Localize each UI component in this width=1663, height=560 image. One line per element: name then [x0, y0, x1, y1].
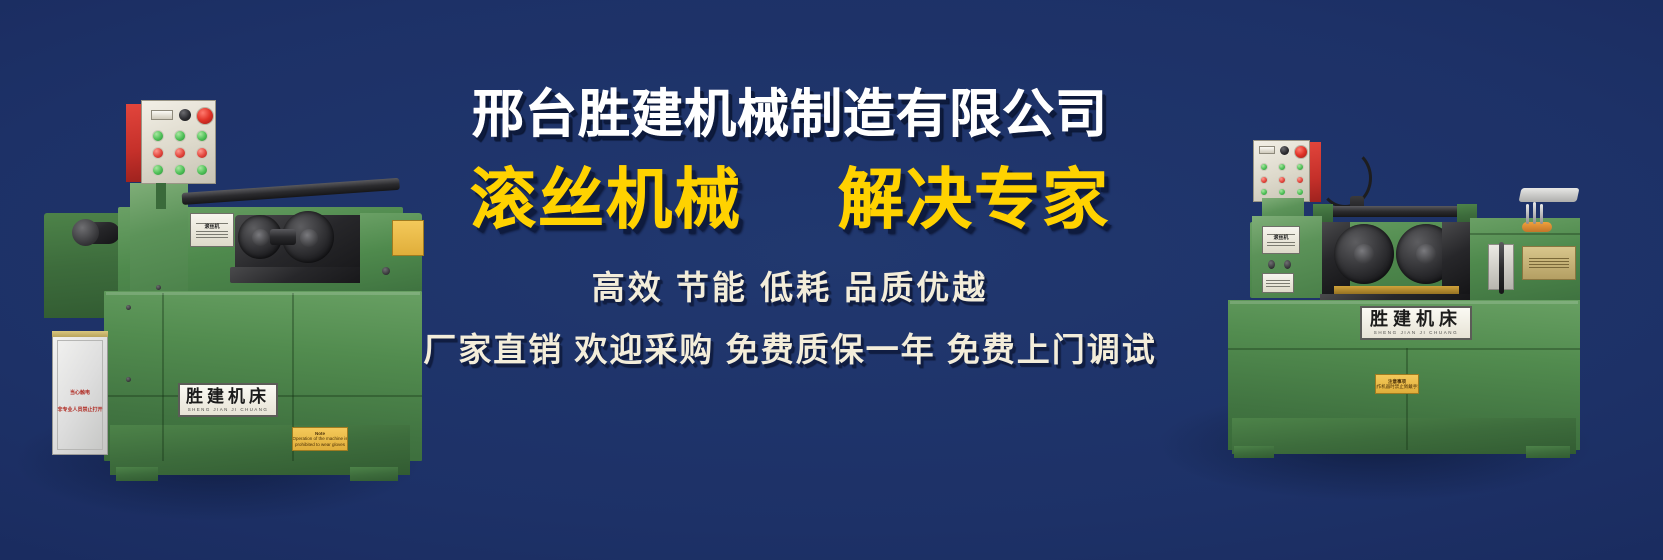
headline-left: 滚丝机械: [470, 163, 742, 236]
right-machine-warning-label: 注意事项 操作机器时禁止佩戴手套: [1375, 374, 1419, 394]
indicator-lamp[interactable]: [196, 130, 208, 142]
promotional-banner: 滚丝机 胜建机床 SHEN: [0, 0, 1663, 560]
left-machine-roller-hub-b: [300, 229, 318, 247]
right-machine-head-bolt: [1268, 260, 1275, 269]
right-machine-base-seam: [1228, 348, 1580, 350]
indicator-lamp[interactable]: [1296, 188, 1304, 196]
left-machine-foot: [350, 467, 398, 481]
left-machine-rail-bracket: [156, 183, 166, 209]
nameplate-chinese: 胜建机床: [1370, 310, 1462, 328]
right-machine-info-plate: [1262, 273, 1294, 293]
indicator-lamp[interactable]: [152, 164, 164, 176]
indicator-lamp[interactable]: [174, 164, 186, 176]
nameplate-pinyin: SHENG JIAN JI CHUANG: [188, 408, 269, 413]
cabinet-warning-text: 当心触电 非专业人员禁止打开: [53, 390, 107, 414]
right-machine-seam: [1470, 233, 1580, 235]
indicator-lamp[interactable]: [1278, 163, 1286, 171]
left-machine-warning-label: Note Operation of the machine is prohibi…: [292, 427, 348, 451]
tagline-features: 高效 节能 低耗 品质优越: [390, 261, 1190, 309]
indicator-lamp[interactable]: [1296, 163, 1304, 171]
left-machine-cabinet-top-trim: [52, 331, 108, 337]
left-machine-control-panel[interactable]: [126, 100, 216, 186]
indicator-lamp[interactable]: [196, 147, 208, 159]
left-machine-spec-plate: 滚丝机: [190, 213, 234, 247]
indicator-lamp[interactable]: [196, 164, 208, 176]
right-machine-top-fixture: [1519, 188, 1580, 202]
left-machine-shaft-hub: [72, 219, 99, 246]
control-panel-display: [1259, 146, 1275, 154]
right-machine-coolant-tube: [1526, 204, 1529, 224]
control-panel-face[interactable]: [1253, 140, 1310, 202]
nameplate-chinese: 胜建机床: [186, 388, 270, 405]
headline-right: 解决专家: [838, 163, 1110, 236]
left-machine-electrical-cabinet[interactable]: 当心触电 非专业人员禁止打开: [52, 335, 108, 455]
headline-row: 滚丝机械 解决专家: [390, 163, 1190, 236]
indicator-lamp[interactable]: [174, 130, 186, 142]
left-machine-panel-seam: [162, 293, 164, 461]
right-machine-guide-rail: [1330, 206, 1460, 217]
warning-label-line2: prohibited to wear gloves: [295, 442, 345, 447]
indicator-lamp[interactable]: [152, 147, 164, 159]
right-machine-head-bolt: [1284, 260, 1291, 269]
indicator-lamp[interactable]: [1260, 163, 1268, 171]
machine-left: 滚丝机 胜建机床 SHEN: [30, 95, 430, 485]
right-machine-coolant-tube: [1540, 204, 1543, 224]
right-machine-foot: [1234, 446, 1274, 458]
control-panel-selector-knob[interactable]: [179, 109, 191, 121]
company-name: 邢台胜建机械制造有限公司: [390, 88, 1190, 143]
left-machine-roller-base: [230, 267, 380, 283]
control-panel-display: [151, 110, 173, 120]
emergency-stop-button[interactable]: [1294, 145, 1308, 159]
tagline-services: 厂家直销 欢迎采购 免费质保一年 免费上门调试: [390, 323, 1190, 371]
indicator-lamp[interactable]: [1278, 176, 1286, 184]
right-machine-control-panel[interactable]: [1253, 140, 1323, 202]
left-machine-base-bolt: [126, 305, 131, 310]
banner-text-block: 邢台胜建机械制造有限公司 滚丝机械 解决专家 高效 节能 低耗 品质优越 厂家直…: [390, 88, 1190, 371]
machine-right: 滚丝机: [1170, 118, 1590, 458]
indicator-lamp[interactable]: [1260, 188, 1268, 196]
right-machine-roller-hub-a: [1354, 244, 1374, 264]
right-machine-base-lower: [1232, 418, 1576, 454]
left-machine-right-bolt: [382, 267, 390, 275]
right-machine-tailstock-rod: [1499, 242, 1504, 294]
left-machine-base-bolt: [126, 377, 131, 382]
right-machine-coolant-tube: [1533, 202, 1536, 224]
indicator-lamp[interactable]: [174, 147, 186, 159]
right-machine-brass-plate: [1522, 246, 1576, 280]
left-machine-foot: [116, 467, 158, 481]
right-machine-top-highlight: [1230, 301, 1578, 304]
right-machine-foot: [1526, 446, 1570, 458]
left-machine-roller-hub-a: [252, 229, 269, 246]
left-machine-top-highlight: [106, 292, 420, 295]
left-machine-nameplate: 胜建机床 SHENG JIAN JI CHUANG: [178, 383, 278, 417]
right-machine-spec-plate: 滚丝机: [1262, 226, 1300, 254]
right-machine-nameplate: 胜建机床 SHENG JIAN JI CHUANG: [1360, 306, 1472, 340]
indicator-lamp[interactable]: [1260, 176, 1268, 184]
left-machine-roller-spindle: [270, 229, 296, 245]
warning-label-line2: 操作机器时禁止佩戴手套: [1375, 384, 1419, 389]
indicator-lamp[interactable]: [1296, 176, 1304, 184]
control-panel-face[interactable]: [141, 100, 216, 184]
right-machine-base-seam: [1406, 348, 1408, 450]
indicator-lamp[interactable]: [152, 130, 164, 142]
indicator-lamp[interactable]: [1278, 188, 1286, 196]
emergency-stop-button[interactable]: [196, 107, 214, 125]
nameplate-pinyin: SHENG JIAN JI CHUANG: [1374, 331, 1459, 336]
control-panel-selector-knob[interactable]: [1280, 146, 1289, 155]
right-machine-roller-hub-b: [1416, 244, 1436, 264]
left-machine-base-bolt: [156, 285, 161, 290]
right-machine-die-holder-b: [1442, 222, 1470, 296]
